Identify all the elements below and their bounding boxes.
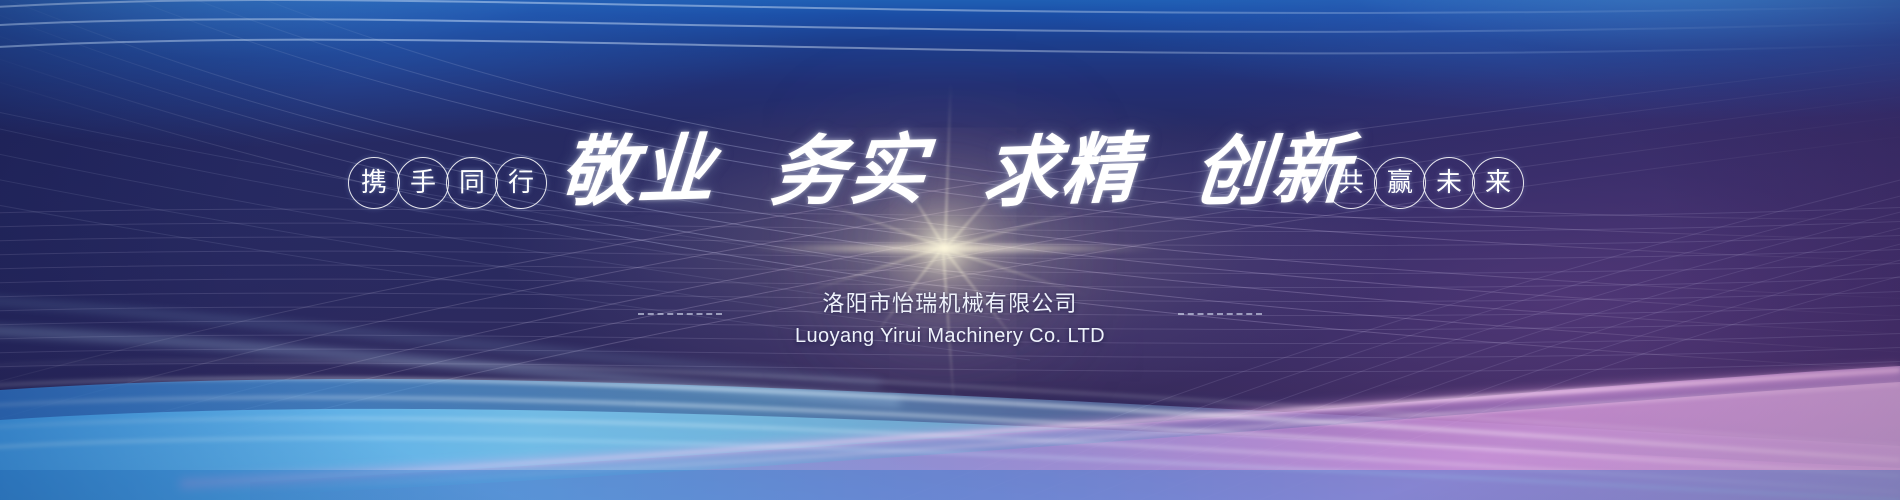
headline-word-qiujing: 求精 bbox=[980, 130, 1140, 211]
banner-content: 携 手 同 行 敬业 务实 求精 创新 共 赢 未 来 洛阳市怡瑞机械有限公司 … bbox=[0, 0, 1900, 500]
headline-word-wushi: 务实 bbox=[768, 132, 931, 211]
circle-char-gong: 共 bbox=[1325, 157, 1377, 209]
company-name-cn: 洛阳市怡瑞机械有限公司 bbox=[822, 290, 1077, 320]
slogan-headline: 敬业 务实 求精 创新 bbox=[560, 118, 1350, 224]
company-name-en: Luoyang Yirui Machinery Co. LTD bbox=[795, 322, 1105, 350]
circle-char-lai: 来 bbox=[1472, 157, 1524, 209]
marketing-banner: 携 手 同 行 敬业 务实 求精 创新 共 赢 未 来 洛阳市怡瑞机械有限公司 … bbox=[0, 0, 1900, 500]
circle-char-xing: 行 bbox=[495, 157, 547, 209]
circle-char-wei: 未 bbox=[1423, 157, 1475, 209]
slogan-circles-left: 携 手 同 行 bbox=[348, 157, 544, 209]
headline-word-jingye: 敬业 bbox=[558, 131, 719, 211]
circle-char-tong: 同 bbox=[446, 157, 498, 209]
circle-char-shou: 手 bbox=[397, 157, 449, 209]
company-name-block: 洛阳市怡瑞机械有限公司 Luoyang Yirui Machinery Co. … bbox=[0, 290, 1900, 350]
circle-char-ying: 赢 bbox=[1374, 157, 1426, 209]
slogan-circles-right: 共 赢 未 来 bbox=[1325, 157, 1521, 209]
circle-char-xie: 携 bbox=[348, 157, 400, 209]
